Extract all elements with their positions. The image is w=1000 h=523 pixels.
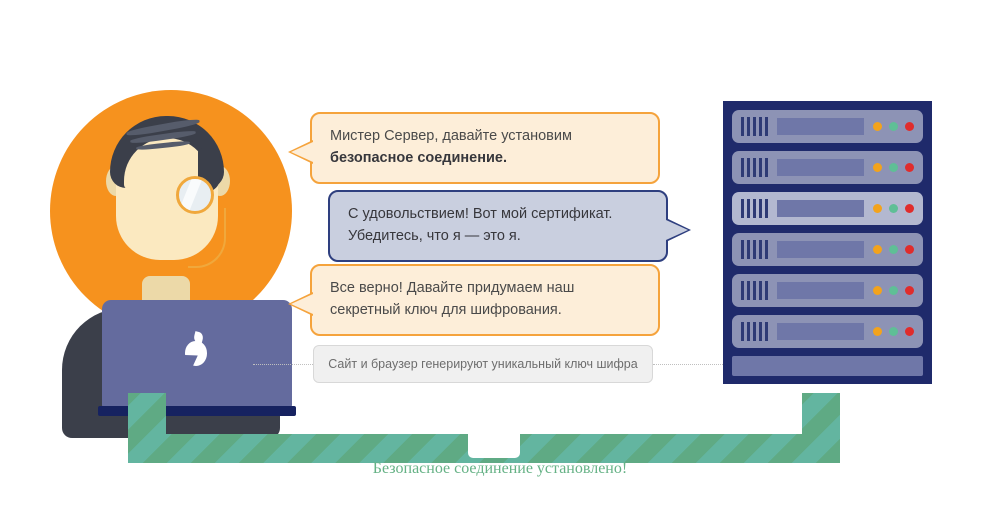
note-text: Сайт и браузер генерируют уникальный клю… [328, 357, 637, 371]
drive-slot [777, 159, 864, 176]
bubble-2-line-2: Убедитесь, что я — это я. [348, 226, 648, 248]
bubble-3-line-2: секретный ключ для шифрования. [330, 300, 640, 322]
status-leds [873, 286, 914, 295]
bubble-1-line-1: Мистер Сервер, давайте установим [330, 126, 640, 148]
status-leds [873, 163, 914, 172]
vent-bars-icon [741, 240, 768, 259]
infographic-canvas: Мистер Сервер, давайте установим безопас… [0, 0, 1000, 523]
bubble-1-line-2: безопасное соединение. [330, 150, 507, 166]
connector-line-right [653, 364, 725, 365]
server-unit [732, 233, 923, 266]
server-unit [732, 110, 923, 143]
speech-bubble-user-1: Мистер Сервер, давайте установим безопас… [310, 112, 660, 184]
vent-bars-icon [741, 199, 768, 218]
bubble-2-line-1: С удовольствием! Вот мой сертификат. [348, 204, 648, 226]
padlock-icon [465, 396, 523, 458]
server-rack [723, 101, 932, 384]
connector-line-left [253, 364, 313, 365]
bubble-3-tail-fill [291, 294, 313, 314]
server-blank-panel [732, 356, 923, 376]
status-leds [873, 245, 914, 254]
drive-slot [777, 282, 864, 299]
user-character [40, 90, 310, 400]
drive-slot [777, 323, 864, 340]
server-unit [732, 192, 923, 225]
vent-bars-icon [741, 322, 768, 341]
status-leds [873, 327, 914, 336]
server-unit [732, 151, 923, 184]
laptop-base [98, 406, 296, 416]
server-unit [732, 274, 923, 307]
key-generation-note: Сайт и браузер генерируют уникальный клю… [313, 345, 653, 383]
status-leds [873, 204, 914, 213]
vent-bars-icon [741, 158, 768, 177]
drive-slot [777, 241, 864, 258]
speech-bubble-server-1: С удовольствием! Вот мой сертификат. Убе… [328, 190, 668, 262]
pear-logo-icon [183, 332, 209, 366]
bubble-1-tail-fill [291, 142, 313, 162]
vent-bars-icon [741, 117, 768, 136]
bubble-3-line-1: Все верно! Давайте придумаем наш [330, 278, 640, 300]
drive-slot [777, 200, 864, 217]
speech-bubble-user-2: Все верно! Давайте придумаем наш секретн… [310, 264, 660, 336]
drive-slot [777, 118, 864, 135]
server-unit [732, 315, 923, 348]
status-leds [873, 122, 914, 131]
vent-bars-icon [741, 281, 768, 300]
footer-caption: Безопасное соединение установлено! [0, 460, 1000, 478]
bubble-2-tail-fill [666, 220, 688, 240]
